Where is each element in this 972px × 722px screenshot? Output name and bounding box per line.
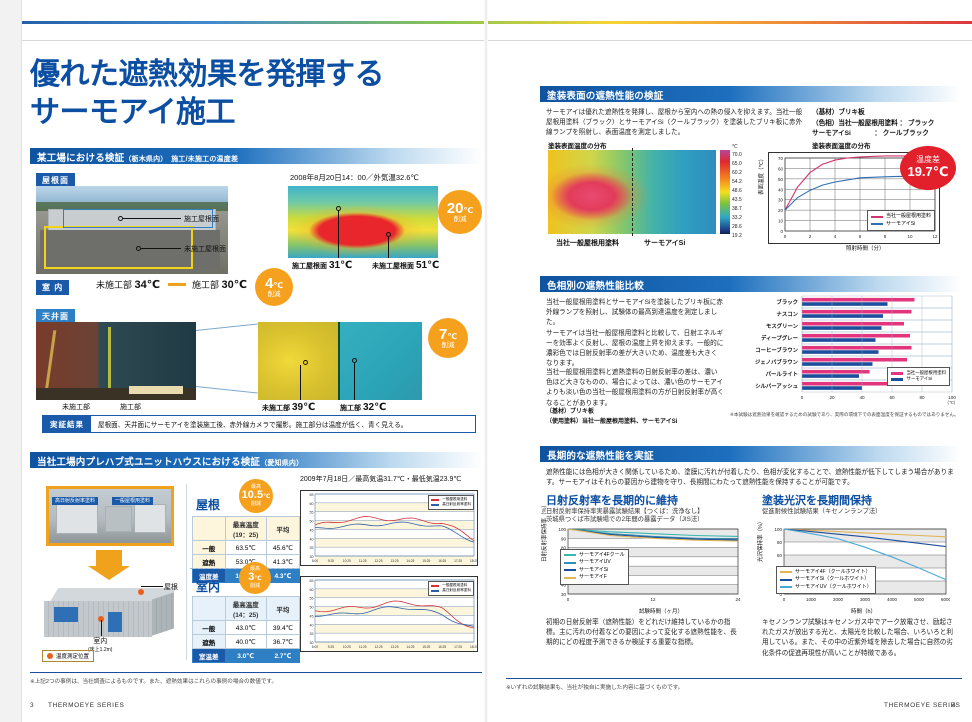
unit-roof-title: 屋根 — [196, 496, 220, 513]
svg-text:35: 35 — [310, 546, 314, 550]
svg-text:6000: 6000 — [941, 597, 950, 602]
scale-tick: 43.5 — [732, 197, 742, 203]
svg-text:80: 80 — [777, 540, 783, 545]
roof-condition: 2008年8月20日14：00／外気温32.6℃ — [290, 172, 419, 183]
svg-text:40: 40 — [778, 187, 784, 192]
legend-item: サーモアイUV（クールホワイト） — [780, 584, 872, 592]
svg-text:12:25: 12:25 — [375, 645, 383, 649]
roof-thermal-image — [288, 186, 438, 258]
right-folio-number: 4 — [952, 702, 956, 709]
right-footer-rule — [506, 678, 962, 679]
surface-thermal-divider — [632, 148, 633, 236]
scale-tick: 33.2 — [732, 215, 742, 221]
svg-text:15:25: 15:25 — [422, 645, 430, 649]
legend-label: サーモアイSi — [906, 376, 932, 383]
bar-category-label: ジェノバブラウン — [755, 358, 799, 366]
bar-thermoeye — [802, 338, 876, 342]
table-header: 最高温度(19：25) — [225, 517, 266, 541]
legend-item: サーモアイ4Fクール — [564, 552, 625, 560]
table-cell: 43.0℃ — [225, 621, 266, 635]
scale-tick: 54.2 — [732, 179, 742, 185]
legend-label: サーモアイF — [579, 574, 607, 582]
svg-text:14:25: 14:25 — [406, 559, 414, 563]
svg-text:6: 6 — [859, 234, 862, 239]
iso-leader-indoor — [101, 620, 102, 636]
svg-text:80: 80 — [919, 395, 925, 400]
legend-item: サーモアイSi — [564, 567, 625, 575]
roof-thermal-label-treated: 施工屋根面 31℃ — [292, 260, 352, 271]
svg-text:8: 8 — [884, 234, 887, 239]
scale-tick: 38.7 — [732, 206, 742, 212]
bar-general — [802, 382, 889, 386]
legend-swatch — [780, 586, 792, 588]
surface-thermal-label-left: 当社一般屋根用塗料 — [556, 238, 619, 248]
table-header — [193, 597, 226, 621]
roof-thermal-leader-1 — [338, 210, 339, 258]
table-cell: 3.0℃ — [225, 649, 266, 663]
bar-thermoeye — [802, 326, 882, 330]
roof-photo-label-treated: 施工屋根面 — [184, 214, 219, 224]
x-axis-label: 試験時間（ヶ月） — [639, 607, 683, 615]
bar-thermoeye — [802, 302, 888, 306]
x-axis-label: 時間（h） — [851, 607, 876, 615]
hue-comparison-chart: ブラックナスコンモスグリーンディープグレーコーヒーブラウンジェノバブラウンパール… — [730, 294, 962, 406]
ceiling-label-untreated: 未施工部 39℃ — [262, 402, 315, 413]
legend-item: サーモアイF — [564, 574, 625, 582]
legend-label: サーモアイSi（クールホワイト） — [795, 576, 869, 584]
bar-category-label: コーヒーブラウン — [755, 346, 798, 354]
surface-material-info: （基材）ブリキ板 （色相）当社一般屋根用塗料 ： ブラック サーモアイSi ： … — [812, 108, 962, 140]
hue-bar-svg: ブラックナスコンモスグリーンディープグレーコーヒーブラウンジェノバブラウンパール… — [730, 294, 962, 406]
svg-text:12: 12 — [650, 597, 656, 602]
chart-legend: 当社一般屋根用塗料サーモアイSi — [887, 367, 950, 386]
legend-label: サーモアイSi — [886, 221, 915, 229]
down-arrow-head-icon — [88, 566, 130, 580]
row-label: 一般 — [193, 621, 226, 635]
svg-text:18:25: 18:25 — [470, 645, 477, 649]
x-axis-label: 照射時間（分） — [846, 244, 885, 252]
svg-text:0: 0 — [783, 597, 786, 602]
roof-photo — [36, 186, 228, 274]
measure-legend: 温度測定位置 — [42, 650, 94, 662]
y-axis-label: 日射反射率保持率（%） — [540, 502, 548, 562]
svg-text:45: 45 — [310, 614, 314, 618]
svg-text:8:00: 8:00 — [312, 645, 318, 649]
surface-thermal-label-right: サーモアイSi — [644, 238, 685, 248]
svg-text:10: 10 — [907, 234, 913, 239]
svg-text:0: 0 — [784, 234, 787, 239]
table-cell: 2.7℃ — [266, 649, 299, 663]
legend-swatch — [871, 216, 883, 218]
table-header: 平均 — [266, 517, 299, 541]
svg-text:60: 60 — [310, 588, 314, 592]
hue-material-info: （基材）ブリキ板 （使用塗料）当社一般屋根用塗料、サーモアイSi — [546, 408, 724, 427]
unit-photo-label-right: 一般屋根用塗料 — [112, 489, 153, 507]
gloss-chart-subtitle: 促進耐候性試験結果（キセノンランプ法） — [762, 506, 881, 515]
svg-text:4: 4 — [834, 234, 837, 239]
svg-text:17:25: 17:25 — [454, 559, 462, 563]
legend-swatch — [431, 504, 439, 506]
durability-intro-text: 遮熱性能には色相が大きく関係しているため、塗膜に汚れが付着したり、色相が変化する… — [546, 468, 958, 488]
page-title-line1: 優れた遮熱効果を発揮する — [30, 56, 470, 94]
svg-text:40: 40 — [310, 537, 314, 541]
legend-swatch — [431, 590, 439, 592]
legend-item: サーモアイSi（クールホワイト） — [780, 576, 872, 584]
page-spine — [484, 0, 488, 722]
unit-condition: 2009年7月18日／最高気温31.7℃・最低気温23.9℃ — [300, 474, 461, 484]
svg-text:30: 30 — [561, 592, 567, 597]
section-header-durability: 長期的な遮熱性能を実証 — [540, 446, 962, 462]
table-cell: 41.3℃ — [266, 555, 299, 569]
section-header-surface: 塗装表面の遮熱性能の検証 — [540, 86, 962, 102]
table-cell: 40.0℃ — [225, 635, 266, 649]
table-cell: 36.7℃ — [266, 635, 299, 649]
bar-general — [802, 298, 915, 302]
chart-legend: サーモアイ4F（クールホワイト）サーモアイSi（クールホワイト）サーモアイUV（… — [776, 566, 876, 595]
reflectance-chart-subtitle2: 茨城県つくば市試験場での2年間の暴露データ（JIS法） — [546, 514, 703, 523]
table-cell: 39.4℃ — [266, 621, 299, 635]
thermal-color-scale — [720, 150, 730, 234]
indoor-label: 室 内 — [36, 277, 69, 295]
legend-item: サーモアイSi — [871, 221, 931, 229]
gloss-chart-note: キセノンランプ試験はキセノンガス中でアーク放電させ、励起されたガスが放出する光と… — [762, 618, 958, 659]
bar-category-label: ブラック — [776, 298, 798, 306]
unit-indoor-table: 最高温度(14：25)平均一般43.0℃39.4℃遮熱40.0℃36.7℃室温差… — [192, 596, 300, 663]
thermal-dist-title-left: 塗装表面温度の分布 — [548, 140, 607, 150]
legend-label: 当社一般屋根用塗料 — [886, 213, 931, 221]
svg-text:70: 70 — [778, 156, 784, 161]
ceiling-photo — [36, 322, 196, 400]
ceiling-connector-bottom — [196, 386, 258, 393]
svg-text:16:25: 16:25 — [438, 559, 446, 563]
svg-text:13:25: 13:25 — [391, 559, 399, 563]
bar-general — [802, 346, 912, 350]
chart-legend: 一般屋根用塗料高日射反射率塗料 — [428, 581, 474, 596]
svg-text:10: 10 — [778, 219, 784, 224]
bar-category-label: シルバーアッシュ — [755, 383, 798, 390]
legend-item: サーモアイ4F（クールホワイト） — [780, 569, 872, 577]
unit-indoor-badge: 最高 3℃ 削減 — [239, 562, 271, 594]
table-row: 一般63.5℃45.6℃ — [193, 541, 300, 555]
legend-label: サーモアイUV（クールホワイト） — [795, 584, 872, 592]
bar-general — [802, 310, 912, 314]
roof-thermal-leader-2 — [388, 236, 389, 258]
measure-dot-icon — [47, 653, 53, 659]
section-header-hue: 色相別の遮熱性能比較 — [540, 276, 962, 292]
svg-text:9:25: 9:25 — [328, 559, 334, 563]
svg-text:13:25: 13:25 — [391, 645, 399, 649]
legend-swatch — [891, 378, 903, 381]
svg-text:50: 50 — [778, 177, 784, 182]
header-rule — [22, 40, 972, 41]
svg-text:9:25: 9:25 — [328, 645, 334, 649]
scale-unit: ℃ — [732, 144, 738, 150]
ceiling-thermal-untreated — [258, 322, 338, 400]
table-row: 遮熱40.0℃36.7℃ — [193, 635, 300, 649]
indoor-before: 未施工部 34℃ — [96, 278, 160, 291]
right-footnote: ※いずれの試験結果も、当社が独自に実施した内容に基づくものです。 — [506, 683, 683, 691]
iso-label-roof: 屋根 — [164, 582, 178, 592]
scale-tick: 19.2 — [732, 233, 742, 239]
page-title: 優れた遮熱効果を発揮する サーモアイ施工 — [30, 56, 470, 133]
thermal-scale-ticks: ℃70.065.060.254.248.643.538.733.228.619.… — [732, 148, 756, 236]
ceiling-photo-caption-treated: 施工部 — [120, 402, 141, 412]
legend-item: 当社一般屋根用塗料 — [891, 370, 946, 377]
table-header — [193, 517, 226, 541]
svg-text:（℃）: （℃） — [945, 400, 958, 405]
hue-bar-footnote: ※本試験は遮熱効果を確認するための試験であり、実際の環境下での表面温度を保証する… — [730, 412, 959, 418]
legend-label: サーモアイSi — [579, 567, 608, 575]
roof-thermal-label-untreated: 未施工屋根面 51℃ — [372, 260, 439, 271]
legend-item: 高日射反射率塗料 — [431, 502, 471, 507]
unit-divider — [186, 484, 187, 660]
ceiling-connector-top — [196, 324, 258, 331]
table-row: 室温差3.0℃2.7℃ — [193, 649, 300, 663]
row-label: 一般 — [193, 541, 226, 555]
svg-text:50: 50 — [310, 606, 314, 610]
ceiling-leader-2 — [354, 363, 355, 400]
y-axis-label: 表面温度（℃） — [757, 155, 765, 194]
legend-swatch — [891, 372, 903, 375]
svg-text:11:25: 11:25 — [359, 559, 367, 563]
section-header-unithouse: 当社工場内プレハブ式ユニットハウスにおける検証（愛知県内） — [30, 452, 482, 468]
bar-thermoeye — [802, 374, 859, 378]
svg-text:20: 20 — [829, 395, 835, 400]
hue-note-text: 当社一般屋根用塗料と遮熱塗料の日射反射率の差は、濃い色ほど大きなものの、場合によ… — [546, 368, 724, 409]
indoor-reduction-badge: 4℃ 削減 — [255, 268, 293, 306]
result-bar: 実証結果 屋根面、天井面にサーモアイを塗装施工後、赤外線カメラで撮影。施工部分は… — [42, 415, 476, 433]
svg-text:65: 65 — [310, 579, 314, 583]
unit-indoor-chart: 65605550454035308:009:2510:2511:2512:251… — [300, 576, 478, 652]
svg-text:100: 100 — [558, 527, 566, 532]
svg-text:40: 40 — [310, 623, 314, 627]
legend-swatch — [431, 499, 439, 501]
page-title-line2: サーモアイ施工 — [30, 94, 470, 132]
svg-text:65: 65 — [310, 493, 314, 497]
svg-text:1000: 1000 — [806, 597, 817, 602]
table-row: 一般43.0℃39.4℃ — [193, 621, 300, 635]
svg-text:60: 60 — [889, 395, 895, 400]
legend-label: 高日射反射率塗料 — [442, 588, 471, 593]
svg-text:55: 55 — [310, 597, 314, 601]
unit-photo-label-left: 高日射反射率塗料 — [52, 489, 98, 507]
brochure-page: 優れた遮熱効果を発揮する サーモアイ施工 某工場における検証（栃木県内） 施工/… — [0, 0, 972, 722]
svg-text:8:00: 8:00 — [312, 559, 318, 563]
chart-legend: 一般屋根用塗料高日射反射率塗料 — [428, 495, 474, 510]
table-cell: 63.5℃ — [225, 541, 266, 555]
svg-text:60: 60 — [778, 166, 784, 171]
scale-tick: 60.2 — [732, 170, 742, 176]
bar-thermoeye — [802, 314, 883, 318]
legend-item: サーモアイSi — [891, 376, 946, 383]
legend-swatch — [564, 569, 576, 571]
roof-reduction-badge: 20℃ 削減 — [438, 190, 482, 234]
svg-text:10:25: 10:25 — [343, 645, 351, 649]
hue-intro-text: 当社一般屋根用塗料とサーモアイSiを塗装したブリキ板に赤外線ランプを照射し、試験… — [546, 298, 724, 370]
svg-text:30: 30 — [778, 198, 784, 203]
page-gutter — [0, 0, 22, 722]
svg-text:15:25: 15:25 — [422, 559, 430, 563]
legend-swatch — [431, 585, 439, 587]
legend-label: サーモアイUV — [579, 559, 611, 567]
row-label: 遮熱 — [193, 635, 226, 649]
left-footer-rule — [30, 672, 482, 673]
indoor-after: 施工部 30℃ — [192, 278, 247, 291]
left-folio-brand: THERMOEYE SERIES — [48, 702, 124, 709]
table-header: 平均 — [266, 597, 299, 621]
ceiling-photo-caption-untreated: 未施工部 — [62, 402, 90, 412]
svg-text:24: 24 — [735, 597, 741, 602]
legend-item: 当社一般屋根用塗料 — [871, 213, 931, 221]
chart-legend: サーモアイ4FクールサーモアイUVサーモアイSiサーモアイF — [560, 549, 629, 585]
surface-intro-text: サーモアイは優れた遮熱性を発揮し、屋根から室内への熱の侵入を抑えます。当社一般屋… — [546, 108, 806, 139]
y-axis-label: 光沢保持率（%） — [756, 518, 764, 561]
roof-leader-1 — [123, 218, 181, 219]
ceiling-leader-1 — [300, 365, 301, 400]
ceiling-label-treated: 施工部 32℃ — [340, 402, 386, 413]
svg-text:2: 2 — [809, 234, 812, 239]
svg-text:60: 60 — [310, 502, 314, 506]
svg-text:14:25: 14:25 — [406, 645, 414, 649]
svg-text:55: 55 — [310, 511, 314, 515]
gloss-retention-chart: 0204060801000100020003000400050006000時間（… — [768, 524, 950, 606]
ceiling-reduction-badge: 7℃ 削減 — [428, 318, 468, 358]
svg-text:100: 100 — [774, 527, 782, 532]
table-header: 最高温度(14：25) — [225, 597, 266, 621]
svg-text:5000: 5000 — [914, 597, 925, 602]
top-color-band — [22, 0, 972, 30]
svg-text:16:25: 16:25 — [438, 645, 446, 649]
svg-text:4000: 4000 — [887, 597, 898, 602]
svg-text:2000: 2000 — [833, 597, 844, 602]
legend-label: サーモアイ4F（クールホワイト） — [795, 569, 871, 577]
ceiling-thermal-divider — [338, 322, 340, 400]
left-footnote: ※上記2つの事例は、当社調査によるものです。また、遮熱効果はこれらの事例の場合の… — [30, 677, 277, 685]
legend-label: 当社一般屋根用塗料 — [906, 370, 946, 377]
legend-label: 高日射反射率塗料 — [442, 502, 471, 507]
scale-tick: 70.0 — [732, 152, 742, 158]
svg-text:0: 0 — [567, 597, 570, 602]
svg-text:12:25: 12:25 — [375, 559, 383, 563]
bar-general — [802, 322, 904, 326]
roof-photo-label-untreated: 未施工屋根面 — [184, 244, 226, 254]
bar-category-label: モスグリーン — [766, 322, 799, 330]
section-header-factory: 某工場における検証（栃木県内） 施工/未施工の温度差 — [30, 148, 482, 164]
svg-text:17:25: 17:25 — [454, 645, 462, 649]
scale-tick: 28.6 — [732, 224, 742, 230]
bar-general — [802, 334, 910, 338]
svg-text:40: 40 — [859, 395, 865, 400]
scale-tick: 48.6 — [732, 188, 742, 194]
legend-item: サーモアイUV — [564, 559, 625, 567]
legend-swatch — [564, 562, 576, 564]
svg-text:50: 50 — [310, 520, 314, 524]
reflectance-chart-note: 初期の日射反射率（遮熱性能）をどれだけ維持しているかの指標。主に汚れの付着などの… — [546, 618, 742, 649]
roof-leader-2 — [141, 248, 181, 249]
ceiling-point-untreated — [303, 360, 308, 365]
legend-swatch — [780, 579, 792, 581]
left-folio-number: 3 — [30, 702, 34, 709]
svg-text:12: 12 — [932, 234, 938, 239]
row-label: 室温差 — [193, 649, 226, 663]
bar-category-label: ディープグレー — [761, 334, 798, 342]
bar-general — [802, 370, 870, 374]
chart-legend: 当社一般屋根用塗料サーモアイSi — [867, 210, 935, 231]
svg-text:20: 20 — [778, 208, 784, 213]
temp-diff-badge: 温度差 19.7℃ — [900, 146, 956, 190]
legend-swatch — [780, 571, 792, 573]
svg-text:11:25: 11:25 — [359, 645, 367, 649]
svg-text:18:25: 18:25 — [470, 559, 477, 563]
measure-point-roof — [138, 589, 144, 595]
iso-leader-roof — [141, 586, 163, 587]
table-cell: 45.6℃ — [266, 541, 299, 555]
bar-general — [802, 358, 907, 362]
legend-item: 高日射反射率塗料 — [431, 588, 471, 593]
svg-text:0: 0 — [801, 395, 804, 400]
reflectance-retention-chart: 3040506070809010001224試験時間（ヶ月）日射反射率保持率（%… — [552, 524, 742, 606]
bar-category-label: ナスコン — [776, 311, 798, 318]
unit-roof-chart: 65605550454035308:009:2510:2511:2512:251… — [300, 490, 478, 566]
bar-thermoeye — [802, 350, 879, 354]
svg-text:45: 45 — [310, 528, 314, 532]
svg-text:90: 90 — [561, 536, 567, 541]
bar-category-label: パールライト — [766, 370, 798, 378]
legend-swatch — [564, 554, 576, 556]
thermal-dist-title-right: 塗装表面温度の分布 — [812, 140, 871, 150]
svg-text:35: 35 — [310, 632, 314, 636]
legend-swatch — [871, 223, 883, 225]
legend-label: サーモアイ4Fクール — [579, 552, 625, 560]
right-folio-brand: THERMOEYE SERIES — [884, 702, 960, 709]
scale-tick: 65.0 — [732, 161, 742, 167]
svg-text:60: 60 — [777, 553, 783, 558]
table-cell: 4.3℃ — [266, 569, 299, 583]
svg-text:10:25: 10:25 — [343, 559, 351, 563]
svg-text:3000: 3000 — [860, 597, 871, 602]
unit-indoor-title: 室内 — [196, 578, 220, 595]
unit-roof-badge: 最高 10.5℃ 削減 — [239, 479, 273, 513]
legend-swatch — [564, 577, 576, 579]
indoor-arrow-icon — [168, 283, 186, 286]
row-label: 遮熱 — [193, 555, 226, 569]
